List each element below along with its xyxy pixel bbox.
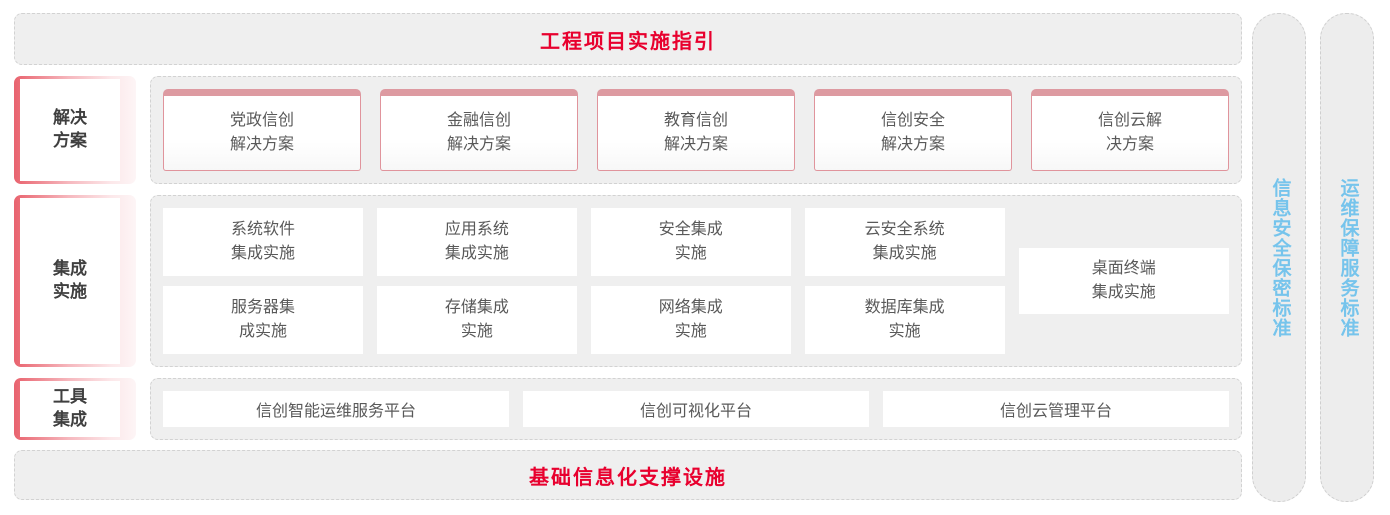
solution-card-face: 党政信创 解决方案 [163, 96, 361, 171]
integration-card-label: 数据库集成 实施 [865, 296, 945, 344]
row-body-integration: 系统软件 集成实施 应用系统 集成实施 安全集成 实施 云安全系统 集成实施 [150, 195, 1242, 367]
solution-card-label: 信创云解 决方案 [1098, 109, 1162, 157]
row-label-solutions-inner: 解决 方案 [20, 79, 120, 181]
integration-row-2: 服务器集 成实施 存储集成 实施 网络集成 实施 数据库集成 实施 [163, 286, 1005, 354]
integration-grid: 系统软件 集成实施 应用系统 集成实施 安全集成 实施 云安全系统 集成实施 [163, 208, 1229, 354]
tool-card-label: 信创可视化平台 [640, 397, 752, 421]
integration-card[interactable]: 云安全系统 集成实施 [805, 208, 1005, 276]
row-label-tools-inner: 工具 集成 [20, 381, 120, 437]
row-label-integration-text: 集成 实施 [53, 258, 87, 304]
integration-card-label: 应用系统 集成实施 [445, 218, 509, 266]
side-standard-operations-label: 运维保障服务标准 [1334, 178, 1361, 338]
row-integration: 集成 实施 系统软件 集成实施 应用系统 集成实施 [14, 195, 1242, 367]
integration-card[interactable]: 数据库集成 实施 [805, 286, 1005, 354]
footer-banner: 基础信息化支撑设施 [14, 450, 1242, 500]
integration-card[interactable]: 应用系统 集成实施 [377, 208, 577, 276]
solution-card-grid: 党政信创 解决方案 金融信创 解决方案 教育信创 解决方案 [163, 89, 1229, 171]
tool-card-grid: 信创智能运维服务平台 信创可视化平台 信创云管理平台 [163, 391, 1229, 427]
solution-card-face: 教育信创 解决方案 [597, 96, 795, 171]
solution-card[interactable]: 信创云解 决方案 [1031, 89, 1229, 171]
row-tools: 工具 集成 信创智能运维服务平台 信创可视化平台 信创云管理平台 [14, 378, 1242, 440]
solution-card-label: 教育信创 解决方案 [664, 109, 728, 157]
row-label-tools: 工具 集成 [14, 378, 136, 440]
integration-card-label: 存储集成 实施 [445, 296, 509, 344]
row-label-integration-inner: 集成 实施 [20, 198, 120, 364]
diagram-root: 工程项目实施指引 解决 方案 党政信创 解决方案 [0, 0, 1390, 515]
footer-title: 基础信息化支撑设施 [529, 461, 727, 490]
side-standard-security-label: 信息安全保密标准 [1266, 178, 1293, 338]
solution-card-label: 金融信创 解决方案 [447, 109, 511, 157]
header-banner: 工程项目实施指引 [14, 13, 1242, 65]
solution-card[interactable]: 党政信创 解决方案 [163, 89, 361, 171]
row-label-tools-text: 工具 集成 [53, 386, 87, 432]
solution-card[interactable]: 教育信创 解决方案 [597, 89, 795, 171]
tool-card[interactable]: 信创可视化平台 [523, 391, 869, 427]
row-label-solutions: 解决 方案 [14, 76, 136, 184]
main-column: 工程项目实施指引 解决 方案 党政信创 解决方案 [14, 13, 1242, 502]
solution-card[interactable]: 金融信创 解决方案 [380, 89, 578, 171]
integration-card[interactable]: 安全集成 实施 [591, 208, 791, 276]
integration-card[interactable]: 网络集成 实施 [591, 286, 791, 354]
solution-card-label: 信创安全 解决方案 [881, 109, 945, 157]
tool-card-label: 信创云管理平台 [1000, 397, 1112, 421]
solution-card-face: 信创云解 决方案 [1031, 96, 1229, 171]
integration-card[interactable]: 服务器集 成实施 [163, 286, 363, 354]
tool-card-label: 信创智能运维服务平台 [256, 397, 416, 421]
row-label-integration: 集成 实施 [14, 195, 136, 367]
integration-left-grid: 系统软件 集成实施 应用系统 集成实施 安全集成 实施 云安全系统 集成实施 [163, 208, 1005, 354]
solution-card-face: 信创安全 解决方案 [814, 96, 1012, 171]
solution-card-face: 金融信创 解决方案 [380, 96, 578, 171]
integration-card-desktop-terminal[interactable]: 桌面终端 集成实施 [1019, 248, 1229, 314]
integration-card-label: 桌面终端 集成实施 [1092, 257, 1156, 305]
integration-row-1: 系统软件 集成实施 应用系统 集成实施 安全集成 实施 云安全系统 集成实施 [163, 208, 1005, 276]
side-standard-operations[interactable]: 运维保障服务标准 [1320, 13, 1374, 502]
row-label-solutions-text: 解决 方案 [53, 107, 87, 153]
row-body-tools: 信创智能运维服务平台 信创可视化平台 信创云管理平台 [150, 378, 1242, 440]
integration-card-label: 系统软件 集成实施 [231, 218, 295, 266]
integration-right-slot: 桌面终端 集成实施 [1019, 208, 1229, 354]
solution-card-label: 党政信创 解决方案 [230, 109, 294, 157]
side-standard-security[interactable]: 信息安全保密标准 [1252, 13, 1306, 502]
row-body-solutions: 党政信创 解决方案 金融信创 解决方案 教育信创 解决方案 [150, 76, 1242, 184]
integration-card[interactable]: 存储集成 实施 [377, 286, 577, 354]
integration-card[interactable]: 系统软件 集成实施 [163, 208, 363, 276]
tool-card[interactable]: 信创云管理平台 [883, 391, 1229, 427]
integration-card-label: 网络集成 实施 [659, 296, 723, 344]
integration-card-label: 云安全系统 集成实施 [865, 218, 945, 266]
integration-card-label: 服务器集 成实施 [231, 296, 295, 344]
solution-card[interactable]: 信创安全 解决方案 [814, 89, 1012, 171]
page-title: 工程项目实施指引 [540, 25, 716, 54]
tool-card[interactable]: 信创智能运维服务平台 [163, 391, 509, 427]
integration-card-label: 安全集成 实施 [659, 218, 723, 266]
row-solutions: 解决 方案 党政信创 解决方案 金融信创 解决方案 [14, 76, 1242, 184]
